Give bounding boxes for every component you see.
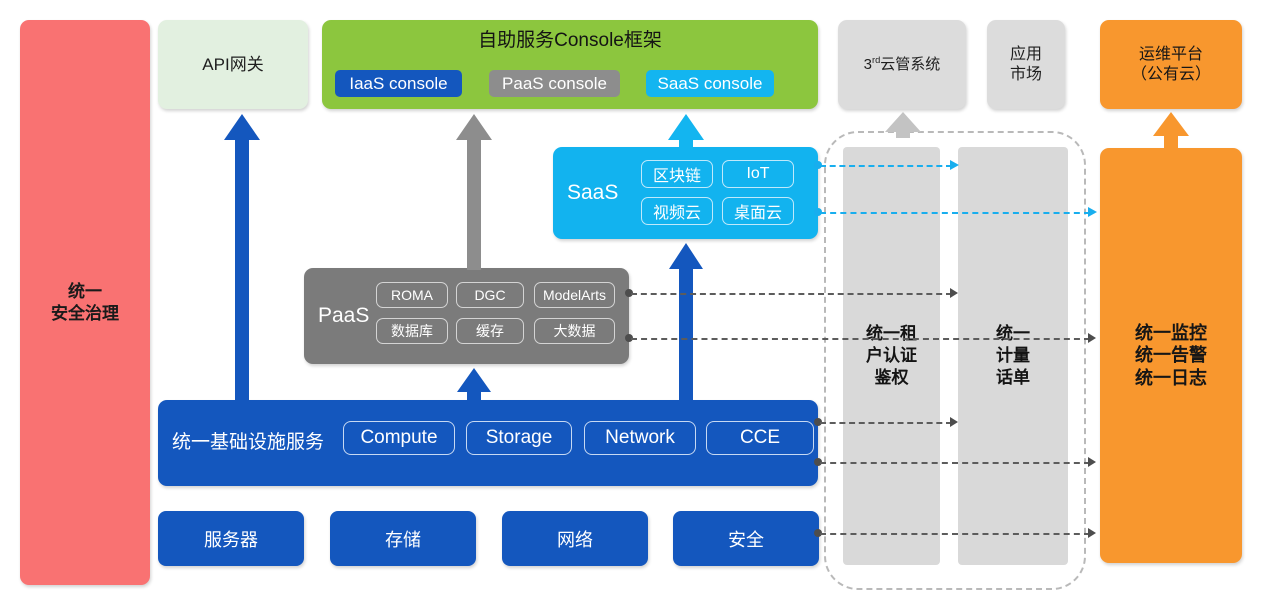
connector-paas-to-auth <box>631 293 952 295</box>
infra-chip-storage[interactable]: Storage <box>466 421 572 455</box>
api-gateway-box: API网关 <box>158 20 308 109</box>
app-market-label: 应用 市场 <box>1010 45 1042 85</box>
paas-chip-modelarts[interactable]: ModelArts <box>534 282 615 308</box>
connector-hardware-to-ops <box>820 533 1090 535</box>
unified-tenant-auth-column: 统一租 户认证 鉴权 <box>843 147 940 565</box>
infra-chip-compute-label: Compute <box>360 427 437 449</box>
unified-monitoring-panel: 统一监控 统一告警 统一日志 <box>1100 148 1242 563</box>
connector-arrow-hardware-to-ops <box>1088 528 1096 538</box>
connector-arrow-paas-to-auth <box>950 288 958 298</box>
arrow-infra-to-paas <box>457 368 491 402</box>
infra-chip-cce-label: CCE <box>740 427 780 449</box>
paas-chip-modelarts-label: ModelArts <box>543 287 606 303</box>
arrow-paas-to-console <box>456 114 492 270</box>
hardware-box-server-label: 服务器 <box>204 526 258 552</box>
unified-security-governance-panel: 统一 安全治理 <box>20 20 150 585</box>
saas-chip-desktop-cloud[interactable]: 桌面云 <box>722 197 794 225</box>
chip-paas-console[interactable]: PaaS console <box>489 70 620 97</box>
connector-saas-to-auth <box>820 165 952 167</box>
chip-paas-console-label: PaaS console <box>502 74 607 94</box>
paas-chip-roma-label: ROMA <box>391 287 433 303</box>
unified-infrastructure-service-label: 统一基础设施服务 <box>172 431 324 455</box>
connector-arrow-infra-to-auth <box>950 417 958 427</box>
hardware-box-security[interactable]: 安全 <box>673 511 819 566</box>
app-market-box: 应用 市场 <box>987 20 1065 109</box>
architecture-diagram: 统一 安全治理 API网关 自助服务Console框架 IaaS console… <box>0 0 1265 605</box>
connector-paas-to-ops <box>631 338 1090 340</box>
saas-chip-video-cloud-label: 视频云 <box>653 199 701 223</box>
paas-chip-cache[interactable]: 缓存 <box>456 318 524 344</box>
paas-chip-database-label: 数据库 <box>391 321 433 341</box>
paas-chip-database[interactable]: 数据库 <box>376 318 448 344</box>
paas-chip-bigdata[interactable]: 大数据 <box>534 318 615 344</box>
paas-chip-dgc-label: DGC <box>474 287 505 303</box>
third-party-cloud-management-box: 3rd云管系统 <box>838 20 966 109</box>
paas-layer-label: PaaS <box>318 303 369 329</box>
saas-chip-video-cloud[interactable]: 视频云 <box>641 197 713 225</box>
ops-platform-label: 运维平台 （公有云） <box>1131 45 1211 85</box>
unified-security-governance-label: 统一 安全治理 <box>51 281 119 324</box>
paas-chip-cache-label: 缓存 <box>476 321 504 341</box>
paas-chip-roma[interactable]: ROMA <box>376 282 448 308</box>
infra-chip-network[interactable]: Network <box>584 421 696 455</box>
ops-platform-public-cloud-box: 运维平台 （公有云） <box>1100 20 1242 109</box>
connector-arrow-saas-to-auth <box>950 160 959 170</box>
arrow-infra-to-saas <box>669 243 703 401</box>
saas-chip-desktop-cloud-label: 桌面云 <box>734 199 782 223</box>
saas-layer-label: SaaS <box>567 180 618 206</box>
connector-saas-to-ops <box>820 212 1090 214</box>
paas-chip-bigdata-label: 大数据 <box>554 321 596 341</box>
unified-monitoring-label: 统一监控 统一告警 统一日志 <box>1135 322 1207 390</box>
unified-tenant-auth-label: 统一租 户认证 鉴权 <box>866 323 917 389</box>
saas-chip-iot-label: IoT <box>746 165 769 183</box>
hardware-box-network[interactable]: 网络 <box>502 511 648 566</box>
third-party-cloud-management-label: 3rd云管系统 <box>864 55 941 75</box>
hardware-box-server[interactable]: 服务器 <box>158 511 304 566</box>
chip-saas-console[interactable]: SaaS console <box>646 70 774 97</box>
arrow-saas-to-console <box>668 114 704 150</box>
connector-arrow-paas-to-ops <box>1088 333 1096 343</box>
hardware-box-security-label: 安全 <box>728 526 764 552</box>
chip-iaas-console-label: IaaS console <box>349 74 447 94</box>
hardware-box-network-label: 网络 <box>557 526 593 552</box>
connector-infra-to-ops <box>820 462 1090 464</box>
connector-arrow-saas-to-ops <box>1088 207 1097 217</box>
connector-arrow-infra-to-ops <box>1088 457 1096 467</box>
unified-metering-billing-column: 统一 计量 话单 <box>958 147 1068 565</box>
saas-chip-blockchain[interactable]: 区块链 <box>641 160 713 188</box>
api-gateway-label: API网关 <box>202 54 263 75</box>
infra-chip-storage-label: Storage <box>486 427 553 449</box>
infra-chip-compute[interactable]: Compute <box>343 421 455 455</box>
infra-chip-network-label: Network <box>605 427 675 449</box>
saas-chip-iot[interactable]: IoT <box>722 160 794 188</box>
connector-infra-to-auth <box>820 422 952 424</box>
paas-chip-dgc[interactable]: DGC <box>456 282 524 308</box>
saas-chip-blockchain-label: 区块链 <box>653 162 701 186</box>
chip-iaas-console[interactable]: IaaS console <box>335 70 462 97</box>
unified-metering-billing-label: 统一 计量 话单 <box>996 323 1030 389</box>
infra-chip-cce[interactable]: CCE <box>706 421 814 455</box>
arrow-infra-to-api-gateway <box>224 114 260 404</box>
hardware-box-storage[interactable]: 存储 <box>330 511 476 566</box>
chip-saas-console-label: SaaS console <box>658 74 763 94</box>
console-framework-title: 自助服务Console框架 <box>478 29 662 53</box>
arrow-zone-to-third-party-cloud <box>885 112 921 138</box>
hardware-box-storage-label: 存储 <box>385 526 421 552</box>
arrow-ops-main-to-ops-top <box>1153 112 1189 148</box>
